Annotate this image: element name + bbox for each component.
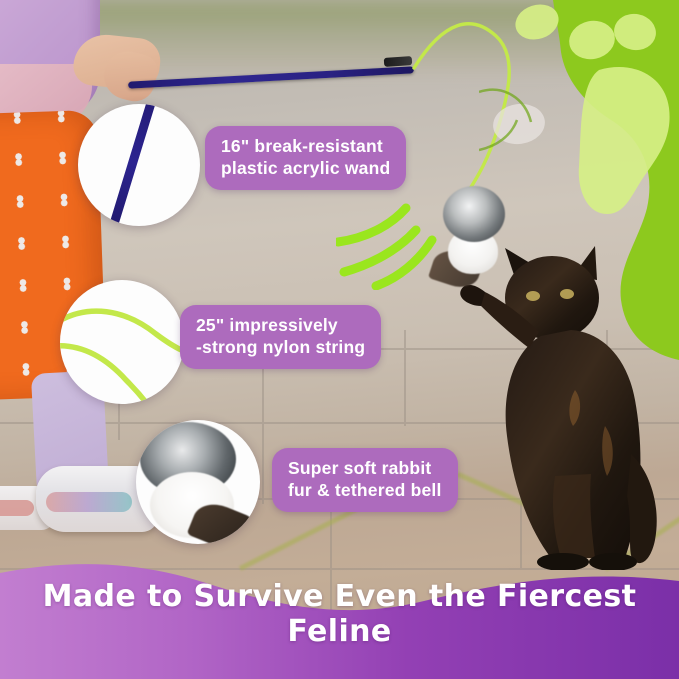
magnifier-wand-closeup: [78, 104, 200, 226]
paw-print-graphic: [479, 0, 679, 360]
magnifier-fur-closeup: [136, 420, 260, 544]
callout-wand: 16" break-resistant plastic acrylic wand: [205, 126, 406, 190]
string-zoomed: [60, 280, 184, 404]
callout-fur: Super soft rabbit fur & tethered bell: [272, 448, 458, 512]
infographic-canvas: 16" break-resistant plastic acrylic wand…: [0, 0, 679, 679]
motion-arcs: [336, 190, 456, 290]
callout-string: 25" impressively -strong nylon string: [180, 305, 381, 369]
wand-rod-zoomed: [102, 104, 159, 226]
banner-headline: Made to Survive Even the Fiercest Feline: [0, 579, 679, 649]
magnifier-string-closeup: [60, 280, 184, 404]
